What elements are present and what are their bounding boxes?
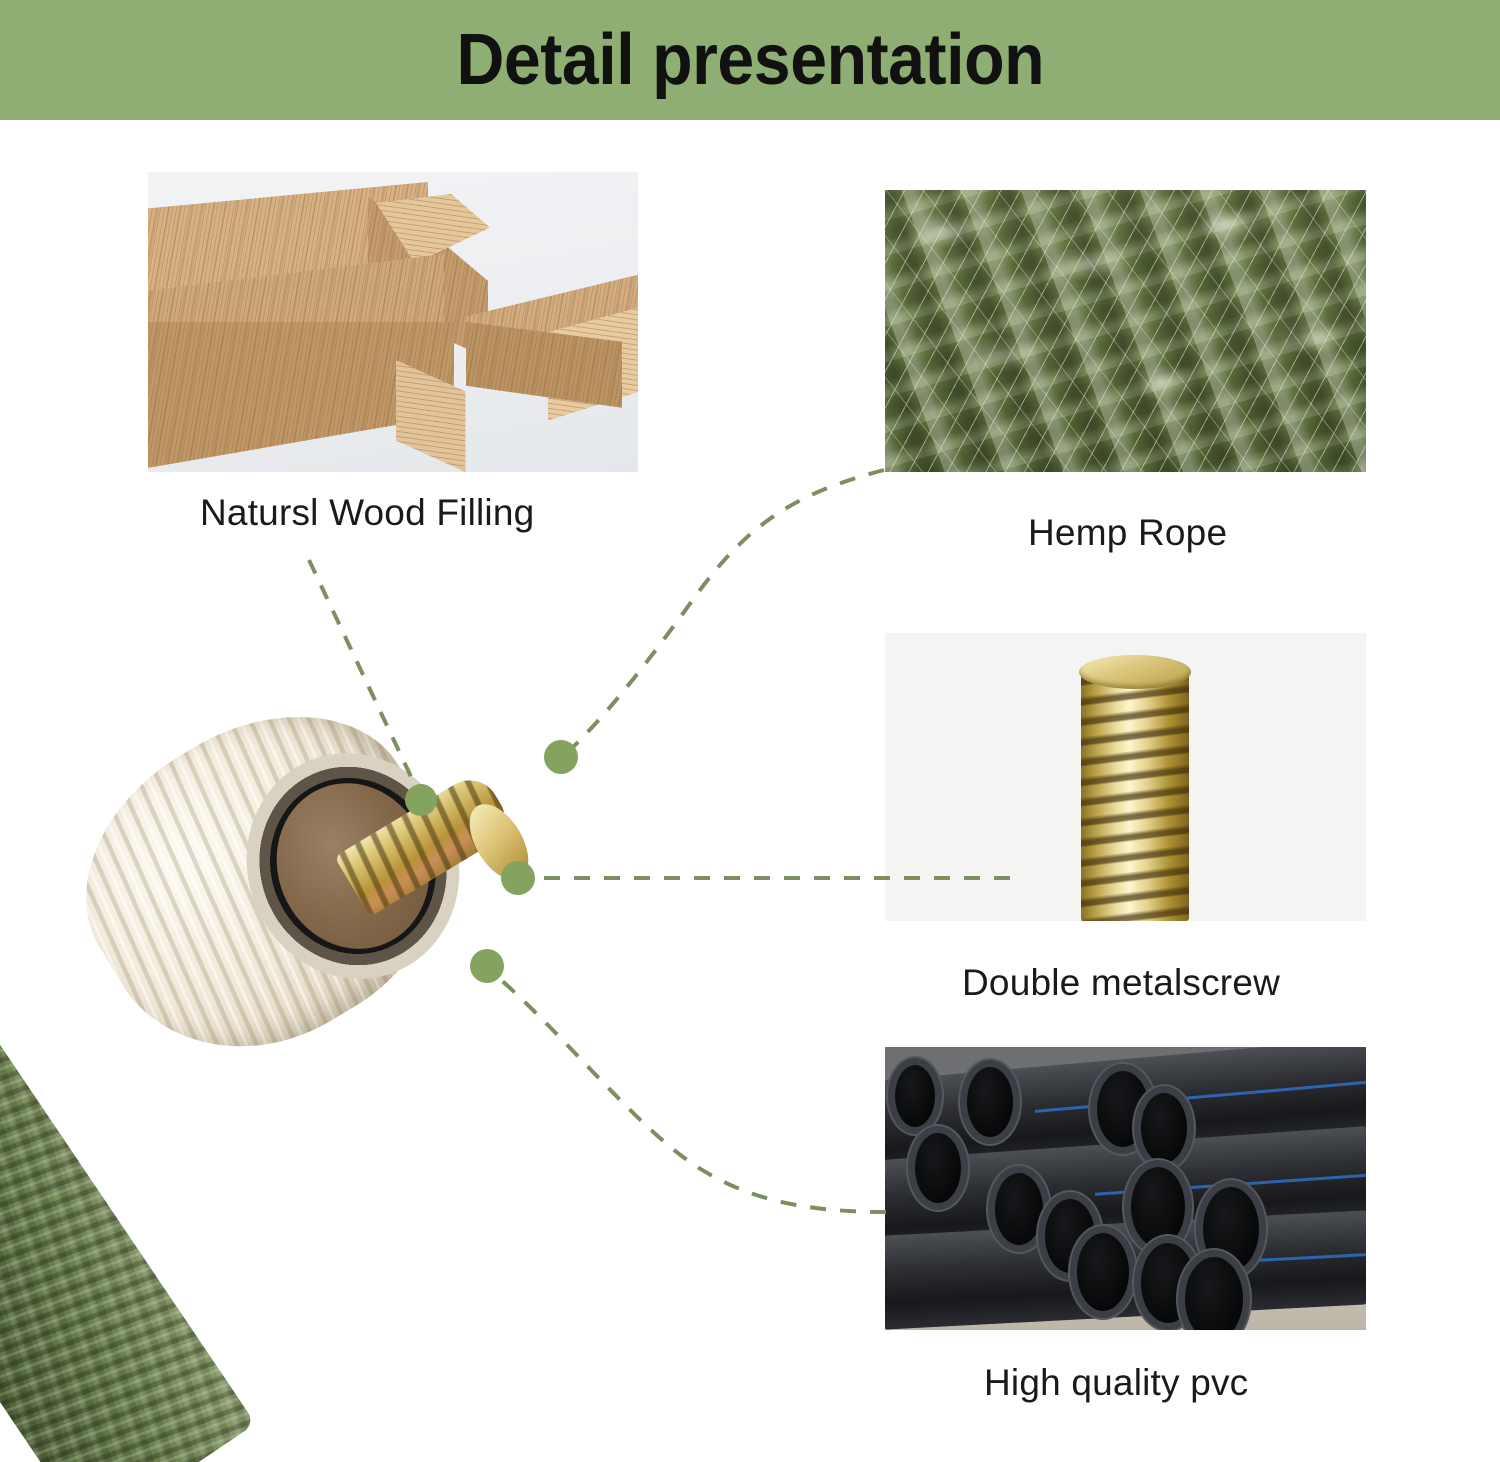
callout-image-screw xyxy=(885,633,1366,921)
product-closeup-photo xyxy=(0,690,640,1462)
callout-image-rope xyxy=(885,190,1366,472)
caption-screw: Double metalscrew xyxy=(962,962,1280,1004)
page-title: Detail presentation xyxy=(456,24,1044,96)
pvc-pipe-opening xyxy=(1141,1093,1187,1163)
screw-thread-grooves xyxy=(1081,669,1189,921)
infographic-page: Detail presentation xyxy=(0,0,1500,1462)
pvc-pipe-opening xyxy=(895,1065,935,1127)
pvc-pipe-opening xyxy=(1077,1233,1129,1311)
caption-wood: Natursl Wood Filling xyxy=(200,492,534,534)
header-banner: Detail presentation xyxy=(0,0,1500,120)
brass-screw-shank xyxy=(1081,669,1189,921)
green-rope-shaft xyxy=(0,1034,256,1462)
pvc-pipe-opening xyxy=(915,1133,961,1203)
caption-pvc: High quality pvc xyxy=(984,1362,1248,1404)
callout-image-wood xyxy=(148,172,638,472)
pvc-pipe-opening xyxy=(967,1067,1013,1137)
callout-image-pvc xyxy=(885,1047,1366,1330)
hemp-rope-loose-fibers xyxy=(885,190,1366,472)
pvc-pipe-opening xyxy=(995,1173,1043,1245)
caption-rope: Hemp Rope xyxy=(1028,512,1227,554)
screw-flat-top xyxy=(1079,655,1191,689)
pvc-pipe-opening xyxy=(1131,1167,1185,1247)
wood-beams-illustration xyxy=(148,172,638,472)
